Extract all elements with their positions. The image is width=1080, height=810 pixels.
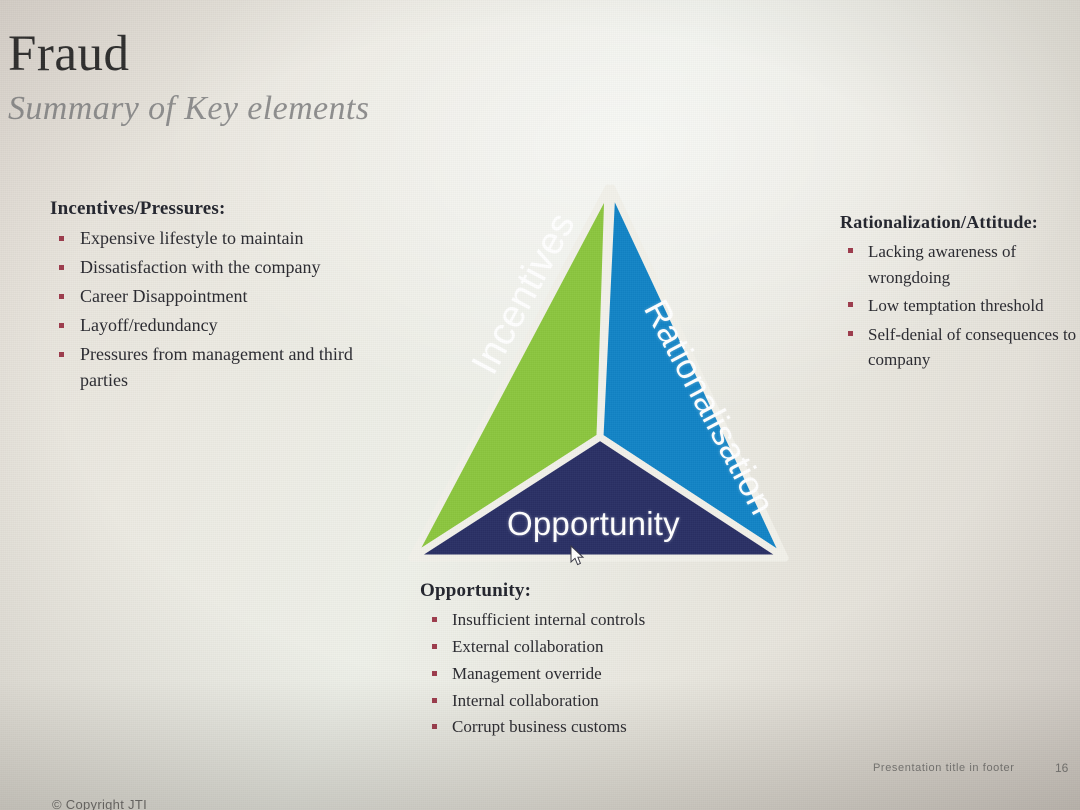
list-item: External collaboration	[420, 634, 720, 661]
group-heading-opportunity: Opportunity:	[420, 580, 720, 602]
list-item: Management override	[420, 661, 720, 688]
list-item: Dissatisfaction with the company	[50, 255, 390, 281]
footer-page-number: 16	[1055, 761, 1068, 775]
group-opportunity: Opportunity: Insufficient internal contr…	[420, 580, 720, 741]
group-incentives-pressures: Incentives/Pressures: Expensive lifestyl…	[50, 198, 390, 396]
group-rationalization-attitude: Rationalization/Attitude: Lacking awaren…	[840, 212, 1080, 376]
title-block: Fraud Summary of Key elements	[8, 28, 369, 127]
page-subtitle: Summary of Key elements	[8, 90, 369, 127]
list-item: Expensive lifestyle to maintain	[50, 226, 390, 252]
list-item: Insufficient internal controls	[420, 607, 720, 634]
bullet-list-incentives: Expensive lifestyle to maintain Dissatis…	[50, 226, 390, 393]
page-title: Fraud	[8, 28, 369, 80]
list-item: Pressures from management and third part…	[50, 342, 390, 394]
list-item: Layoff/redundancy	[50, 313, 390, 339]
footer-title: Presentation title in footer	[873, 762, 1015, 774]
list-item: Corrupt business customs	[420, 714, 720, 741]
copyright-notice: © Copyright JTI	[52, 797, 147, 810]
list-item: Career Disappointment	[50, 284, 390, 310]
fraud-triangle-diagram: Incentives Rationalisation Opportunity	[395, 175, 795, 575]
group-heading-incentives: Incentives/Pressures:	[50, 198, 390, 220]
group-heading-rationalization: Rationalization/Attitude:	[840, 212, 1080, 233]
bullet-list-opportunity: Insufficient internal controls External …	[420, 607, 720, 741]
triangle-label-opportunity: Opportunity	[507, 505, 680, 543]
list-item: Low temptation threshold	[840, 293, 1080, 319]
list-item: Lacking awareness of wrongdoing	[840, 239, 1080, 290]
bullet-list-rationalization: Lacking awareness of wrongdoing Low temp…	[840, 239, 1080, 373]
list-item: Internal collaboration	[420, 688, 720, 715]
list-item: Self-denial of consequences to company	[840, 322, 1080, 373]
slide-canvas: Fraud Summary of Key elements Incentives…	[0, 0, 1080, 810]
